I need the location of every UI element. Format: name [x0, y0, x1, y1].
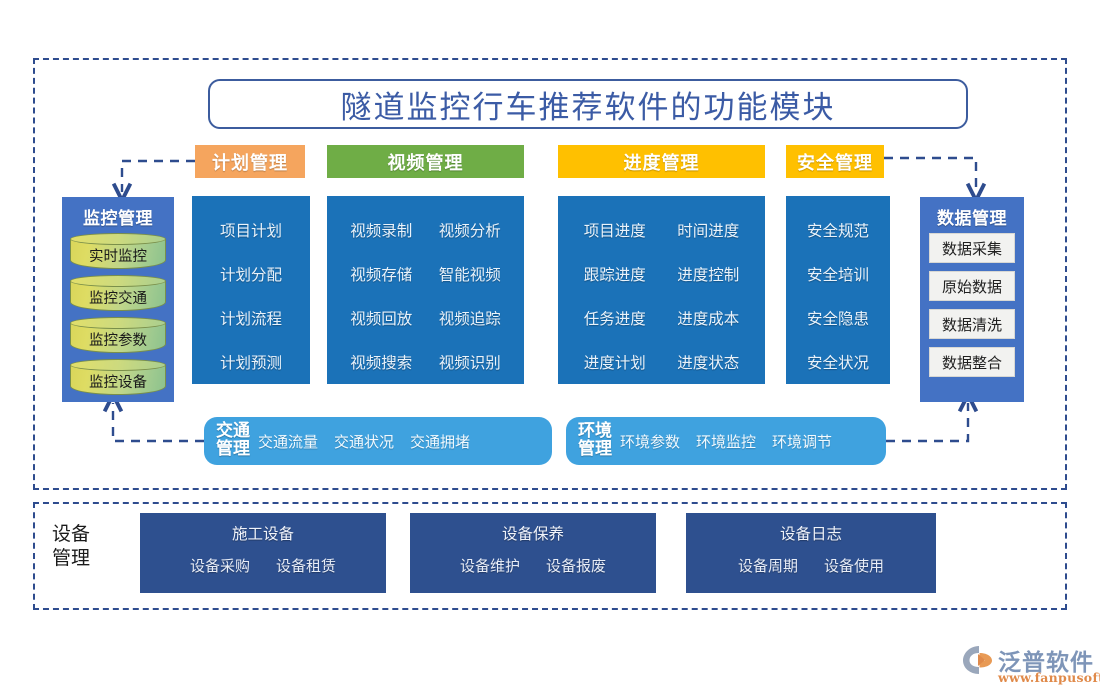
column-row: 安全培训: [786, 252, 890, 296]
pill-title-line2: 管理: [216, 441, 250, 459]
traffic-management-pill[interactable]: 交通 管理 交通流量 交通状况 交通拥堵: [204, 417, 552, 465]
equipment-card-item[interactable]: 设备采购: [190, 555, 250, 576]
pill-items: 交通流量 交通状况 交通拥堵: [258, 431, 470, 452]
column-header-plan[interactable]: 计划管理: [195, 145, 305, 178]
column-row: 视频回放 视频追踪: [327, 296, 524, 340]
equipment-card-items: 设备采购 设备租赁: [190, 555, 336, 576]
environment-management-pill[interactable]: 环境 管理 环境参数 环境监控 环境调节: [566, 417, 886, 465]
monitor-item-label: 监控参数: [70, 329, 166, 350]
pill-item[interactable]: 交通流量: [258, 431, 318, 452]
column-cell[interactable]: 项目进度: [584, 219, 646, 241]
equipment-label-line1: 设备: [52, 522, 122, 546]
pill-item[interactable]: 交通拥堵: [410, 431, 470, 452]
column-row: 任务进度 进度成本: [558, 296, 765, 340]
column-cell[interactable]: 计划预测: [220, 351, 282, 373]
column-row: 安全规范: [786, 208, 890, 252]
column-header-label: 计划管理: [212, 149, 288, 175]
column-cell[interactable]: 计划流程: [220, 307, 282, 329]
column-body-safety[interactable]: 安全规范 安全培训 安全隐患 安全状况: [786, 196, 890, 384]
column-cell[interactable]: 进度成本: [677, 307, 739, 329]
column-body-progress[interactable]: 项目进度 时间进度 跟踪进度 进度控制 任务进度 进度成本 进度计划 进度状态: [558, 196, 765, 384]
column-cell[interactable]: 视频搜索: [350, 351, 412, 373]
data-management-panel[interactable]: 数据管理 数据采集 原始数据 数据清洗 数据整合: [920, 197, 1024, 402]
column-cell[interactable]: 项目计划: [220, 219, 282, 241]
column-row: 计划流程: [192, 296, 310, 340]
column-cell[interactable]: 视频录制: [350, 219, 412, 241]
logo-url: www.fanpusoft.com: [998, 670, 1100, 685]
column-header-label: 视频管理: [388, 149, 464, 175]
diagram-title-box: 隧道监控行车推荐软件的功能模块: [208, 79, 968, 129]
pill-item[interactable]: 交通状况: [334, 431, 394, 452]
monitor-item-label: 监控设备: [70, 371, 166, 392]
equipment-section-label: 设备 管理: [52, 522, 122, 571]
data-panel-title: 数据管理: [937, 204, 1007, 229]
column-row: 视频录制 视频分析: [327, 208, 524, 252]
cylinder-top: [70, 233, 166, 245]
monitor-panel-title: 监控管理: [83, 204, 153, 229]
equipment-card-header: 设备保养: [502, 522, 564, 544]
monitor-cylinder-item[interactable]: 实时监控: [70, 233, 166, 271]
column-row: 安全隐患: [786, 296, 890, 340]
column-cell[interactable]: 跟踪进度: [584, 263, 646, 285]
pill-title-line2: 管理: [578, 441, 612, 459]
column-row: 项目进度 时间进度: [558, 208, 765, 252]
data-item[interactable]: 数据整合: [929, 347, 1015, 377]
column-body-plan[interactable]: 项目计划 计划分配 计划流程 计划预测: [192, 196, 310, 384]
equipment-card-item[interactable]: 设备使用: [824, 555, 884, 576]
equipment-card-items: 设备周期 设备使用: [738, 555, 884, 576]
column-row: 安全状况: [786, 340, 890, 384]
column-cell[interactable]: 安全状况: [807, 351, 869, 373]
equipment-card-item[interactable]: 设备报废: [546, 555, 606, 576]
column-cell[interactable]: 进度计划: [584, 351, 646, 373]
pill-item[interactable]: 环境参数: [620, 431, 680, 452]
monitor-cylinder-item[interactable]: 监控参数: [70, 317, 166, 355]
column-header-label: 进度管理: [624, 149, 700, 175]
pill-title: 环境 管理: [578, 423, 612, 459]
monitor-cylinder-item[interactable]: 监控设备: [70, 359, 166, 397]
fanpu-logo-icon: [962, 645, 996, 675]
cylinder-top: [70, 317, 166, 329]
column-body-video[interactable]: 视频录制 视频分析 视频存储 智能视频 视频回放 视频追踪 视频搜索 视频识别: [327, 196, 524, 384]
cylinder-top: [70, 275, 166, 287]
equipment-card-construction[interactable]: 施工设备 设备采购 设备租赁: [140, 513, 386, 593]
pill-item[interactable]: 环境监控: [696, 431, 756, 452]
column-cell[interactable]: 时间进度: [677, 219, 739, 241]
column-row: 计划分配: [192, 252, 310, 296]
pill-title: 交通 管理: [216, 423, 250, 459]
equipment-card-items: 设备维护 设备报废: [460, 555, 606, 576]
monitor-management-panel[interactable]: 监控管理 实时监控 监控交通 监控参数 监控设备: [62, 197, 174, 402]
equipment-card-header: 设备日志: [780, 522, 842, 544]
column-cell[interactable]: 视频分析: [439, 219, 501, 241]
equipment-card-maintenance[interactable]: 设备保养 设备维护 设备报废: [410, 513, 656, 593]
equipment-label-line2: 管理: [52, 546, 122, 570]
monitor-item-label: 实时监控: [70, 245, 166, 266]
column-cell[interactable]: 视频回放: [350, 307, 412, 329]
column-cell[interactable]: 进度控制: [677, 263, 739, 285]
pill-items: 环境参数 环境监控 环境调节: [620, 431, 832, 452]
equipment-card-item[interactable]: 设备维护: [460, 555, 520, 576]
column-row: 视频搜索 视频识别: [327, 340, 524, 384]
monitor-cylinder-item[interactable]: 监控交通: [70, 275, 166, 313]
equipment-card-item[interactable]: 设备租赁: [276, 555, 336, 576]
column-row: 跟踪进度 进度控制: [558, 252, 765, 296]
column-cell[interactable]: 安全培训: [807, 263, 869, 285]
column-cell[interactable]: 安全隐患: [807, 307, 869, 329]
column-cell[interactable]: 进度状态: [677, 351, 739, 373]
data-item[interactable]: 数据采集: [929, 233, 1015, 263]
column-header-video[interactable]: 视频管理: [327, 145, 524, 178]
column-header-label: 安全管理: [797, 149, 873, 175]
column-cell[interactable]: 视频识别: [439, 351, 501, 373]
diagram-title: 隧道监控行车推荐软件的功能模块: [341, 82, 836, 127]
column-cell[interactable]: 安全规范: [807, 219, 869, 241]
column-cell[interactable]: 任务进度: [584, 307, 646, 329]
data-item[interactable]: 原始数据: [929, 271, 1015, 301]
column-row: 项目计划: [192, 208, 310, 252]
equipment-card-log[interactable]: 设备日志 设备周期 设备使用: [686, 513, 936, 593]
column-row: 视频存储 智能视频: [327, 252, 524, 296]
column-row: 计划预测: [192, 340, 310, 384]
equipment-card-item[interactable]: 设备周期: [738, 555, 798, 576]
column-header-progress[interactable]: 进度管理: [558, 145, 765, 178]
column-cell[interactable]: 视频存储: [350, 263, 412, 285]
data-item[interactable]: 数据清洗: [929, 309, 1015, 339]
monitor-item-label: 监控交通: [70, 287, 166, 308]
diagram-canvas: 隧道监控行车推荐软件的功能模块 监控管理 实时监控 监控交通 监控参数 监控设备…: [0, 0, 1100, 700]
column-header-safety[interactable]: 安全管理: [786, 145, 884, 178]
cylinder-top: [70, 359, 166, 371]
brand-logo: 泛普软件 www.fanpusoft.com: [962, 643, 1090, 689]
column-cell[interactable]: 智能视频: [439, 263, 501, 285]
column-cell[interactable]: 视频追踪: [439, 307, 501, 329]
column-cell[interactable]: 计划分配: [220, 263, 282, 285]
equipment-card-header: 施工设备: [232, 522, 294, 544]
pill-item[interactable]: 环境调节: [772, 431, 832, 452]
column-row: 进度计划 进度状态: [558, 340, 765, 384]
